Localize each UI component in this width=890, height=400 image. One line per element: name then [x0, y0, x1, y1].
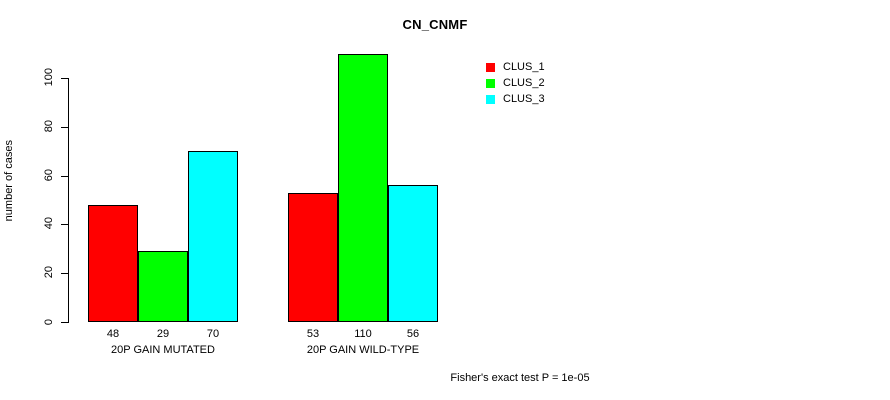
bar-value-label: 110 — [338, 329, 388, 340]
chart-legend: CLUS_1CLUS_2CLUS_3 — [485, 60, 545, 108]
y-axis-tick-label: 80 — [44, 120, 55, 132]
y-axis-tick — [61, 224, 68, 225]
x-axis-group-label: 20P GAIN MUTATED — [88, 344, 238, 357]
legend-color-swatch — [485, 94, 496, 105]
legend-item-label: CLUS_1 — [503, 62, 545, 73]
bar-clus_1-2 — [288, 193, 338, 322]
bar-value-label: 56 — [388, 329, 438, 340]
legend-item: CLUS_1 — [485, 60, 545, 75]
bar-clus_3-2 — [388, 185, 438, 322]
legend-item-label: CLUS_3 — [503, 94, 545, 105]
y-axis-tick — [61, 176, 68, 177]
y-axis-tick-label: 0 — [44, 319, 55, 325]
bar-clus_1-1 — [88, 205, 138, 322]
legend-item: CLUS_2 — [485, 76, 545, 91]
y-axis-tick — [61, 127, 68, 128]
x-axis-group-label: 20P GAIN WILD-TYPE — [288, 344, 438, 357]
y-axis-tick — [61, 78, 68, 79]
y-axis-tick-label: 60 — [44, 169, 55, 181]
legend-item: CLUS_3 — [485, 92, 545, 107]
y-axis-tick-label: 40 — [44, 217, 55, 229]
bar-value-label: 70 — [188, 329, 238, 340]
legend-color-swatch — [485, 78, 496, 89]
y-axis-tick — [61, 322, 68, 323]
statistical-test-annotation: Fisher's exact test P = 1e-05 — [75, 372, 890, 384]
bar-clus_2-2 — [338, 54, 388, 322]
bar-value-label: 48 — [88, 329, 138, 340]
bar-value-label: 29 — [138, 329, 188, 340]
bar-value-label: 53 — [288, 329, 338, 340]
y-axis-line — [68, 78, 69, 323]
legend-item-label: CLUS_2 — [503, 78, 545, 89]
y-axis-tick-label: 100 — [44, 68, 55, 86]
y-axis-title: number of cases — [4, 140, 15, 221]
bar-clus_3-1 — [188, 151, 238, 322]
y-axis-tick — [61, 273, 68, 274]
legend-color-swatch — [485, 62, 496, 73]
bar-clus_2-1 — [138, 251, 188, 322]
y-axis-tick-label: 20 — [44, 266, 55, 278]
page-title: CN_CNMF — [0, 17, 880, 32]
